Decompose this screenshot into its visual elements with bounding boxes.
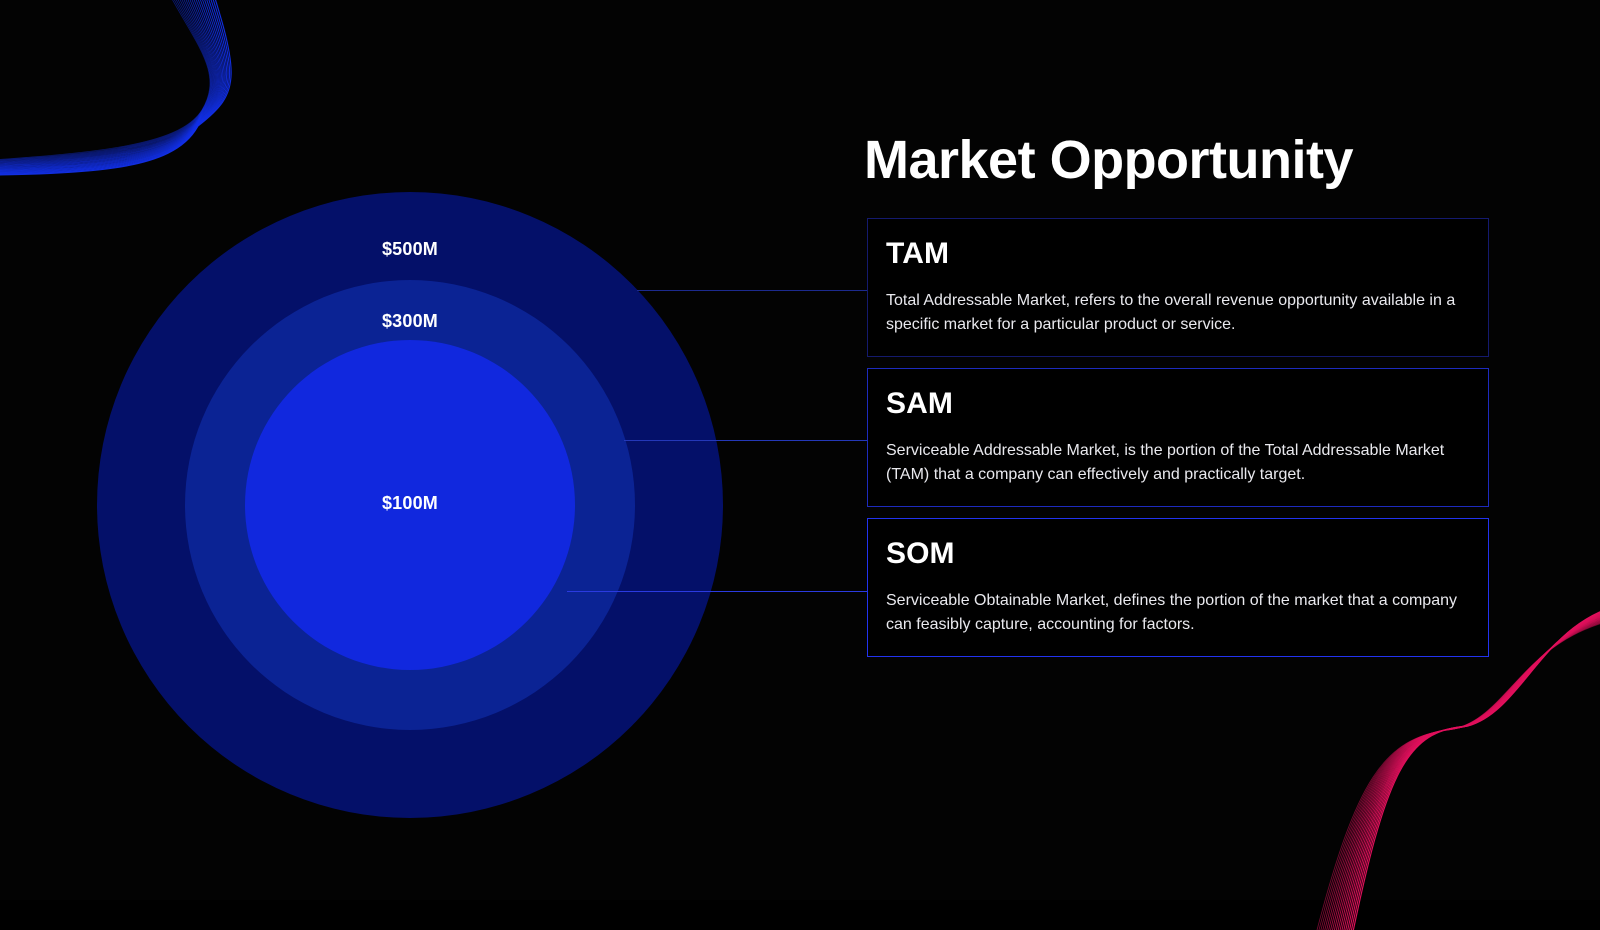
market-ring-som[interactable]: $100M — [245, 340, 575, 670]
card-title-sam: SAM — [886, 389, 1467, 419]
card-title-som: SOM — [886, 539, 1467, 569]
connector-line-tam — [637, 290, 868, 291]
card-description-sam: Serviceable Addressable Market, is the p… — [886, 439, 1467, 487]
slide-canvas: Market Opportunity $500M $300M $100M TAM… — [0, 0, 1600, 900]
market-sizing-diagram: $500M $300M $100M — [97, 192, 723, 818]
definition-card-list: TAM Total Addressable Market, refers to … — [867, 218, 1489, 657]
definition-card-tam[interactable]: TAM Total Addressable Market, refers to … — [867, 218, 1489, 357]
connector-line-sam — [624, 440, 868, 441]
ring-label-som: $100M — [382, 493, 438, 670]
card-title-tam: TAM — [886, 239, 1467, 269]
connector-line-som — [567, 591, 868, 592]
card-description-tam: Total Addressable Market, refers to the … — [886, 289, 1467, 337]
page-title: Market Opportunity — [864, 132, 1353, 189]
definition-card-sam[interactable]: SAM Serviceable Addressable Market, is t… — [867, 368, 1489, 507]
definition-card-som[interactable]: SOM Serviceable Obtainable Market, defin… — [867, 518, 1489, 657]
card-description-som: Serviceable Obtainable Market, defines t… — [886, 589, 1467, 637]
